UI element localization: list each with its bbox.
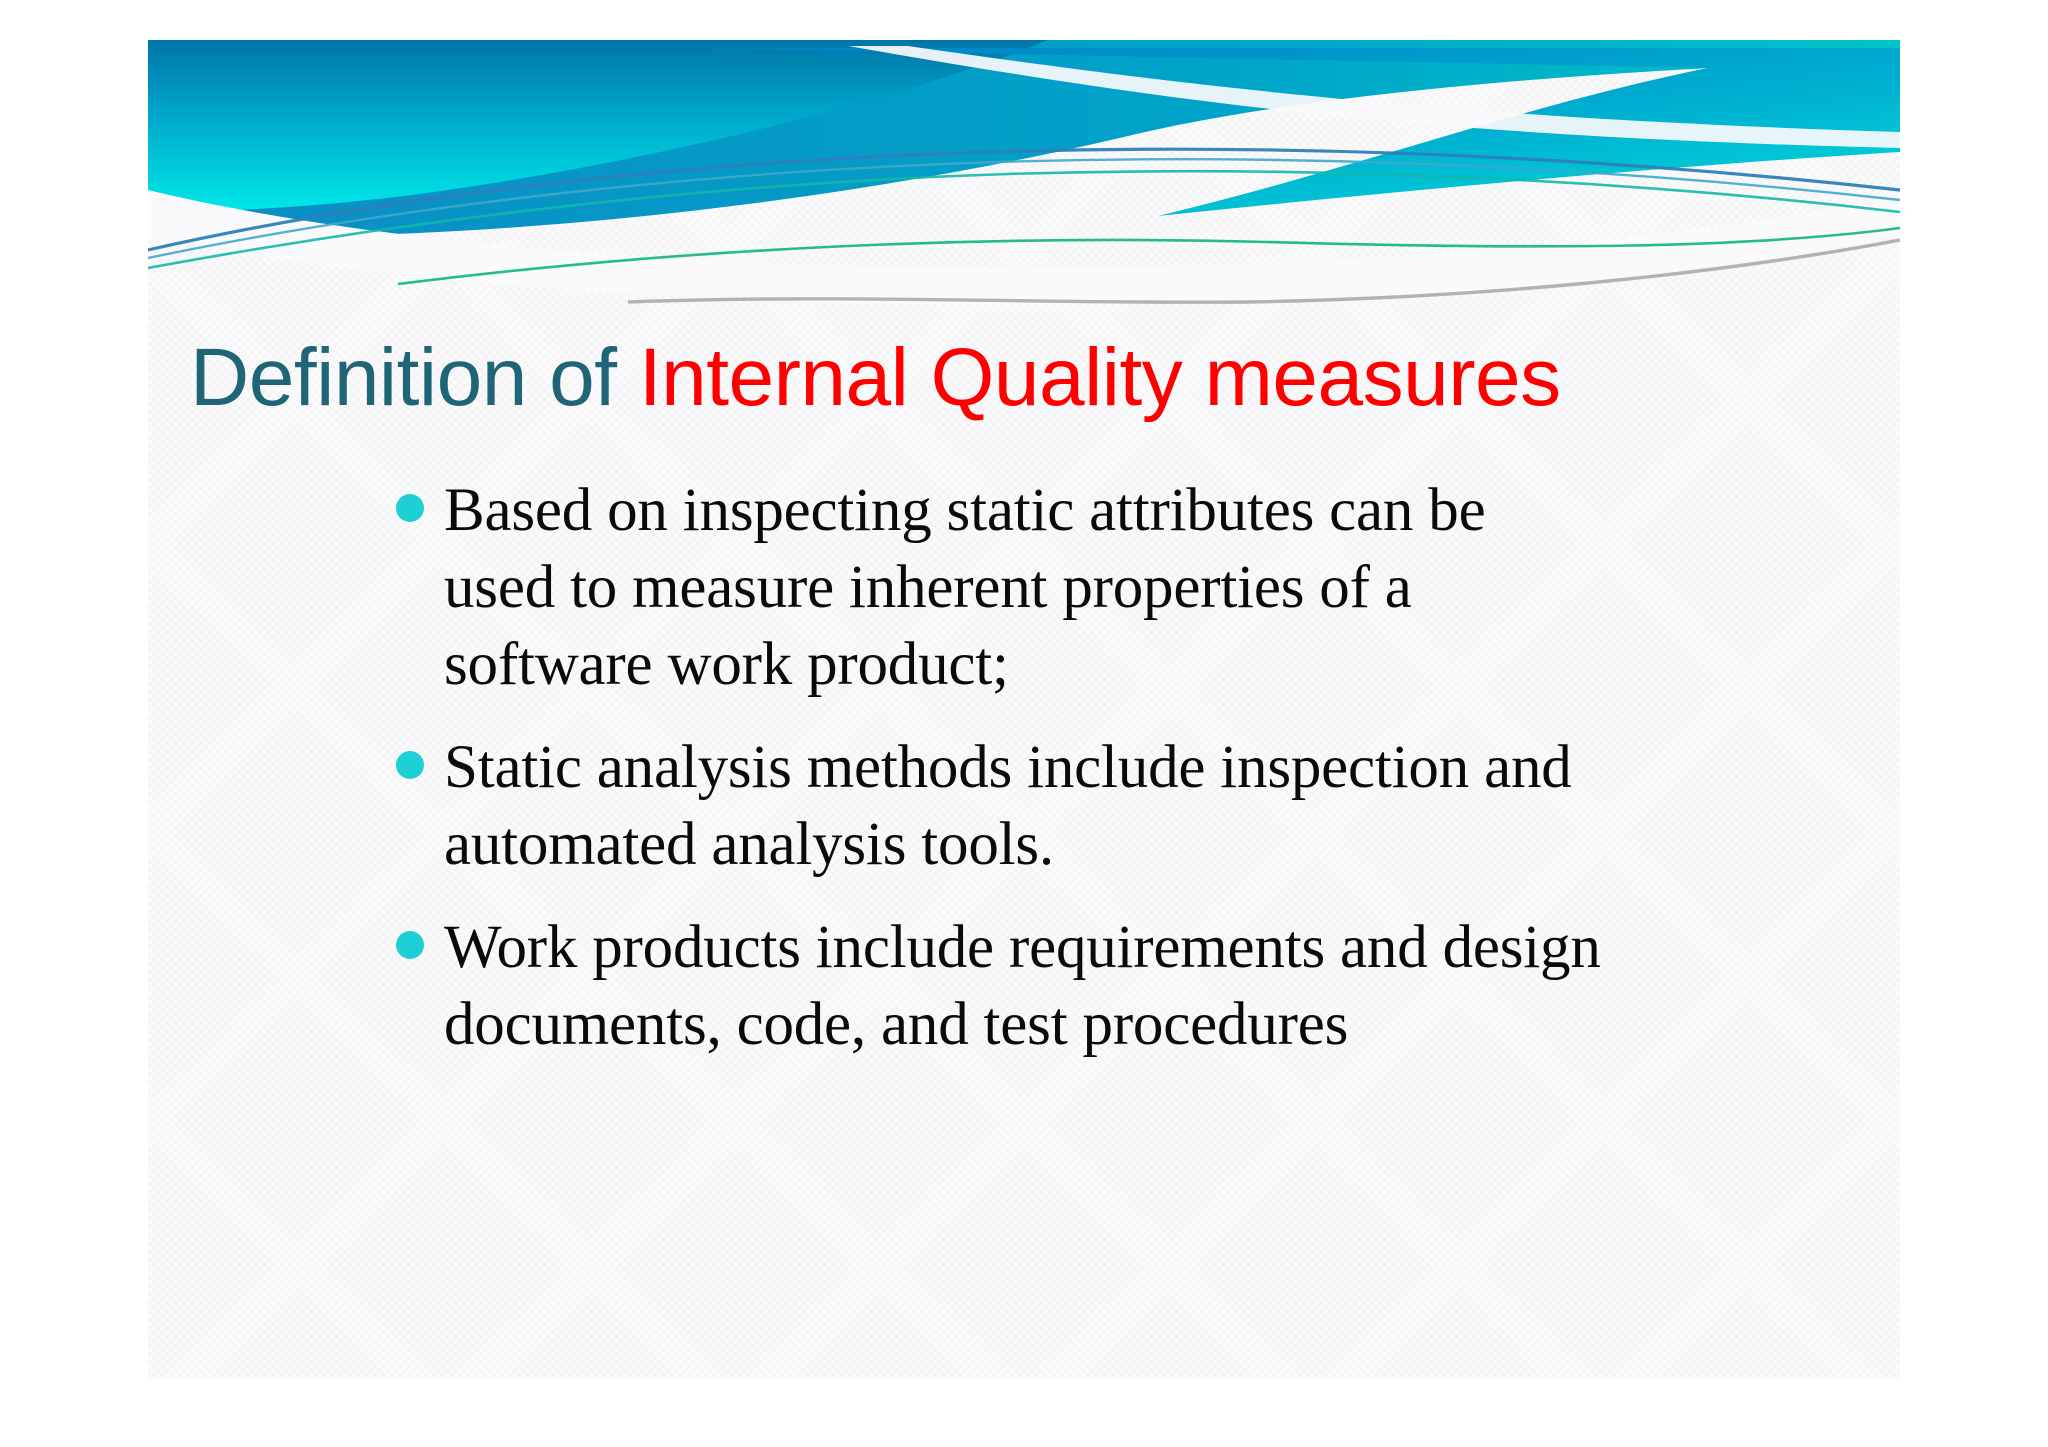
- list-item: Based on inspecting static attributes ca…: [396, 472, 1876, 703]
- banner-svg: [148, 40, 1900, 340]
- slide-page: Definition of Internal Quality measures …: [0, 0, 2048, 1447]
- bullet-circle-icon: [396, 751, 424, 779]
- title-segment-dark: Definition of: [190, 332, 639, 423]
- header-banner-decoration: [148, 40, 1900, 340]
- bullet-circle-icon: [396, 931, 424, 959]
- bullet-text: Static analysis methods include inspecti…: [444, 729, 1764, 883]
- list-item: Static analysis methods include inspecti…: [396, 729, 1876, 883]
- bullet-circle-icon: [396, 494, 424, 522]
- list-item: Work products include requirements and d…: [396, 909, 1876, 1063]
- slide-canvas: Definition of Internal Quality measures …: [148, 40, 1900, 1378]
- slide-title: Definition of Internal Quality measures: [190, 330, 1890, 426]
- bullet-text: Work products include requirements and d…: [444, 909, 1804, 1063]
- bullet-text: Based on inspecting static attributes ca…: [444, 472, 1604, 703]
- title-segment-accent: Internal Quality measures: [639, 332, 1561, 423]
- slide-body-content: Based on inspecting static attributes ca…: [396, 472, 1876, 1089]
